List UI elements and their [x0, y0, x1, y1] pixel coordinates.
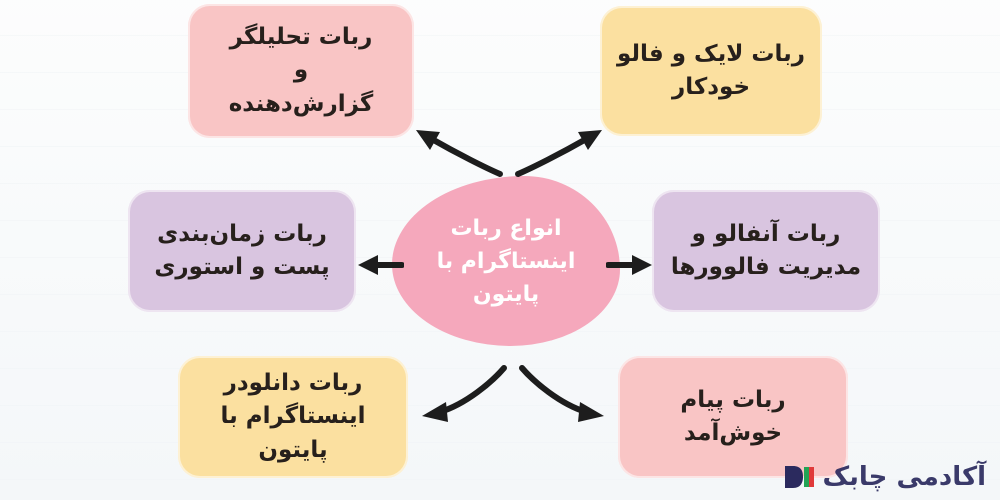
center-node-label: انواع ربات اینستاگرام با پایتون — [392, 212, 620, 311]
node-unfollow[interactable]: ربات آنفالو و مدیریت فالوورها — [652, 190, 880, 312]
academy-logo-icon — [781, 462, 815, 492]
node-downloader[interactable]: ربات دانلودر اینستاگرام با پایتون — [178, 356, 408, 478]
node-welcome[interactable]: ربات پیام خوش‌آمد — [618, 356, 848, 478]
node-welcome-label: ربات پیام خوش‌آمد — [628, 384, 838, 451]
node-autolike[interactable]: ربات لایک و فالو خودکار — [600, 6, 822, 136]
arrow-to-welcome-icon — [508, 360, 618, 432]
diagram-canvas: ربات تحلیلگر و گزارش‌دهنده ربات لایک و ف… — [0, 0, 1000, 500]
watermark-text: آکادمی چابک — [823, 462, 986, 492]
node-scheduler-label: ربات زمان‌بندی پست و استوری — [138, 218, 346, 285]
arrow-to-autolike-icon — [508, 108, 618, 180]
watermark: آکادمی چابک — [781, 462, 986, 492]
node-scheduler[interactable]: ربات زمان‌بندی پست و استوری — [128, 190, 356, 312]
arrow-to-scheduler-icon — [356, 252, 404, 278]
node-autolike-label: ربات لایک و فالو خودکار — [610, 38, 812, 105]
node-analytics[interactable]: ربات تحلیلگر و گزارش‌دهنده — [188, 4, 414, 138]
node-downloader-label: ربات دانلودر اینستاگرام با پایتون — [188, 367, 398, 467]
arrow-to-downloader-icon — [408, 360, 518, 432]
arrow-to-unfollow-icon — [606, 252, 654, 278]
center-node-instagram-bots[interactable]: انواع ربات اینستاگرام با پایتون — [392, 176, 620, 346]
node-unfollow-label: ربات آنفالو و مدیریت فالوورها — [662, 218, 870, 285]
node-analytics-label: ربات تحلیلگر و گزارش‌دهنده — [198, 21, 404, 121]
arrow-to-analytics-icon — [400, 108, 510, 180]
